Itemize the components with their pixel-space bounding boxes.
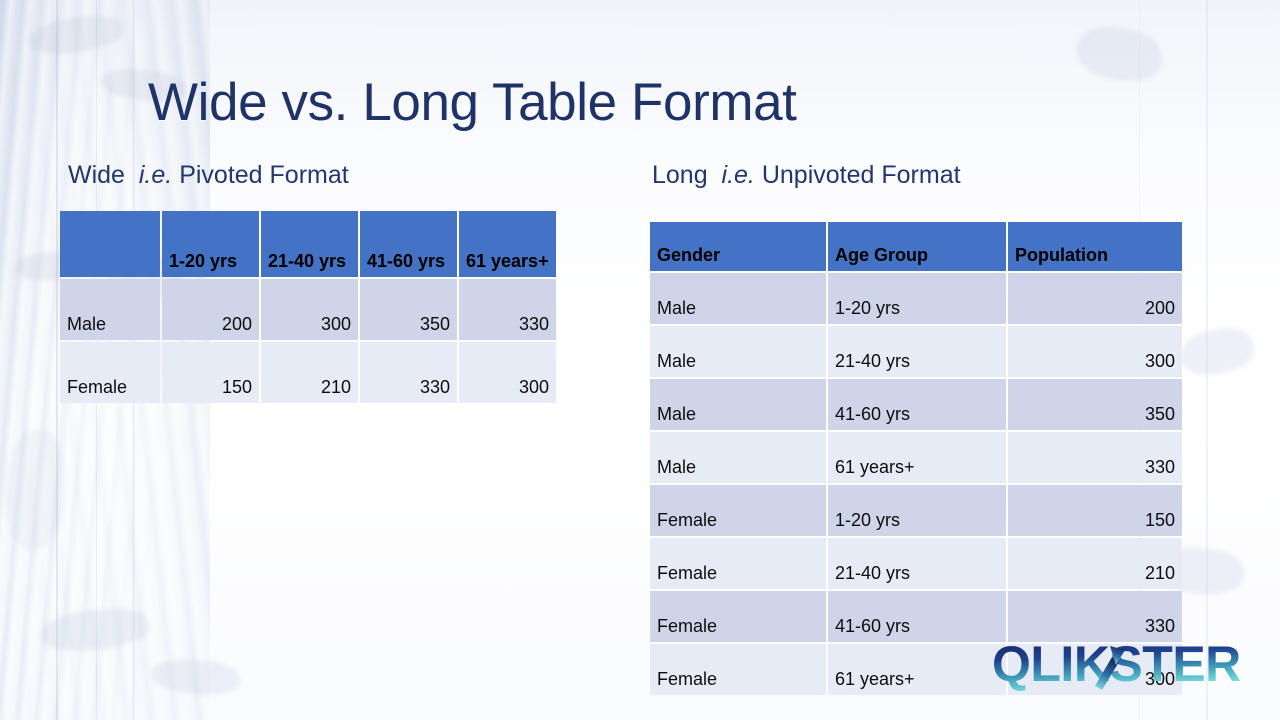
long-cell-gender-1: Male [650, 326, 826, 377]
long-cell-population-6: 330 [1008, 591, 1182, 642]
wide-cell-male-1: 200 [162, 279, 259, 340]
table-row: Male1-20 yrs200 [650, 273, 1182, 324]
table-row: Female21-40 yrs210 [650, 538, 1182, 589]
wide-cell-female-4: 300 [459, 342, 556, 403]
wide-header-age-2: 21-40 yrs [261, 211, 358, 277]
long-cell-gender-2: Male [650, 379, 826, 430]
long-cell-age-group-4: 1-20 yrs [828, 485, 1006, 536]
wide-cell-female-2: 210 [261, 342, 358, 403]
long-cell-gender-6: Female [650, 591, 826, 642]
long-cell-age-group-3: 61 years+ [828, 432, 1006, 483]
wide-row-label-female: Female [60, 342, 160, 403]
long-caption-ie: i.e. [722, 161, 755, 189]
wide-header-age-1: 1-20 yrs [162, 211, 259, 277]
table-row: Female41-60 yrs330 [650, 591, 1182, 642]
table-row: Male41-60 yrs350 [650, 379, 1182, 430]
long-cell-population-0: 200 [1008, 273, 1182, 324]
table-row: Female 150 210 330 300 [60, 342, 556, 403]
long-cell-age-group-6: 41-60 yrs [828, 591, 1006, 642]
wide-cell-female-3: 330 [360, 342, 457, 403]
long-cell-population-3: 330 [1008, 432, 1182, 483]
long-cell-population-1: 300 [1008, 326, 1182, 377]
wide-header-age-3: 41-60 yrs [360, 211, 457, 277]
long-cell-population-4: 150 [1008, 485, 1182, 536]
table-row: Male21-40 yrs300 [650, 326, 1182, 377]
wide-caption-ie: i.e. [139, 161, 172, 189]
long-caption-lead: Long [652, 161, 708, 189]
long-cell-population-2: 350 [1008, 379, 1182, 430]
long-section-caption: Long i.e. Unpivoted Format [652, 161, 961, 190]
qlikster-logo: QLIKSTER [992, 636, 1244, 692]
long-header-gender: Gender [650, 222, 826, 271]
slide-canvas: Wide vs. Long Table Format Wide i.e. Piv… [0, 0, 1280, 720]
wide-header-row: 1-20 yrs 21-40 yrs 41-60 yrs 61 years+ [60, 211, 556, 277]
long-header-row: Gender Age Group Population [650, 222, 1182, 271]
wide-cell-female-1: 150 [162, 342, 259, 403]
long-cell-gender-3: Male [650, 432, 826, 483]
long-caption-tail: Unpivoted Format [762, 161, 961, 189]
wide-table-body: Male 200 300 350 330 Female 150 210 330 … [60, 279, 556, 403]
wide-cell-male-4: 330 [459, 279, 556, 340]
long-header-population: Population [1008, 222, 1182, 271]
long-header-age-group: Age Group [828, 222, 1006, 271]
long-table-head: Gender Age Group Population [650, 222, 1182, 271]
long-cell-gender-7: Female [650, 644, 826, 695]
long-cell-age-group-2: 41-60 yrs [828, 379, 1006, 430]
table-row: Male 200 300 350 330 [60, 279, 556, 340]
long-cell-gender-4: Female [650, 485, 826, 536]
long-unpivoted-table: Gender Age Group Population Male1-20 yrs… [648, 220, 1184, 697]
wide-row-label-male: Male [60, 279, 160, 340]
long-table-body: Male1-20 yrs200Male21-40 yrs300Male41-60… [650, 273, 1182, 695]
long-cell-age-group-0: 1-20 yrs [828, 273, 1006, 324]
wide-cell-male-3: 350 [360, 279, 457, 340]
wide-section-caption: Wide i.e. Pivoted Format [68, 161, 349, 190]
page-title: Wide vs. Long Table Format [148, 72, 796, 133]
long-cell-gender-0: Male [650, 273, 826, 324]
wide-header-corner [60, 211, 160, 277]
wide-caption-lead: Wide [68, 161, 125, 189]
long-cell-gender-5: Female [650, 538, 826, 589]
long-cell-age-group-5: 21-40 yrs [828, 538, 1006, 589]
long-cell-population-5: 210 [1008, 538, 1182, 589]
wide-caption-tail: Pivoted Format [179, 161, 349, 189]
wide-header-age-4: 61 years+ [459, 211, 556, 277]
long-cell-age-group-1: 21-40 yrs [828, 326, 1006, 377]
table-row: Female1-20 yrs150 [650, 485, 1182, 536]
wide-pivoted-table: 1-20 yrs 21-40 yrs 41-60 yrs 61 years+ M… [58, 209, 558, 405]
table-row: Male61 years+330 [650, 432, 1182, 483]
long-cell-age-group-7: 61 years+ [828, 644, 1006, 695]
wide-table-head: 1-20 yrs 21-40 yrs 41-60 yrs 61 years+ [60, 211, 556, 277]
wide-cell-male-2: 300 [261, 279, 358, 340]
